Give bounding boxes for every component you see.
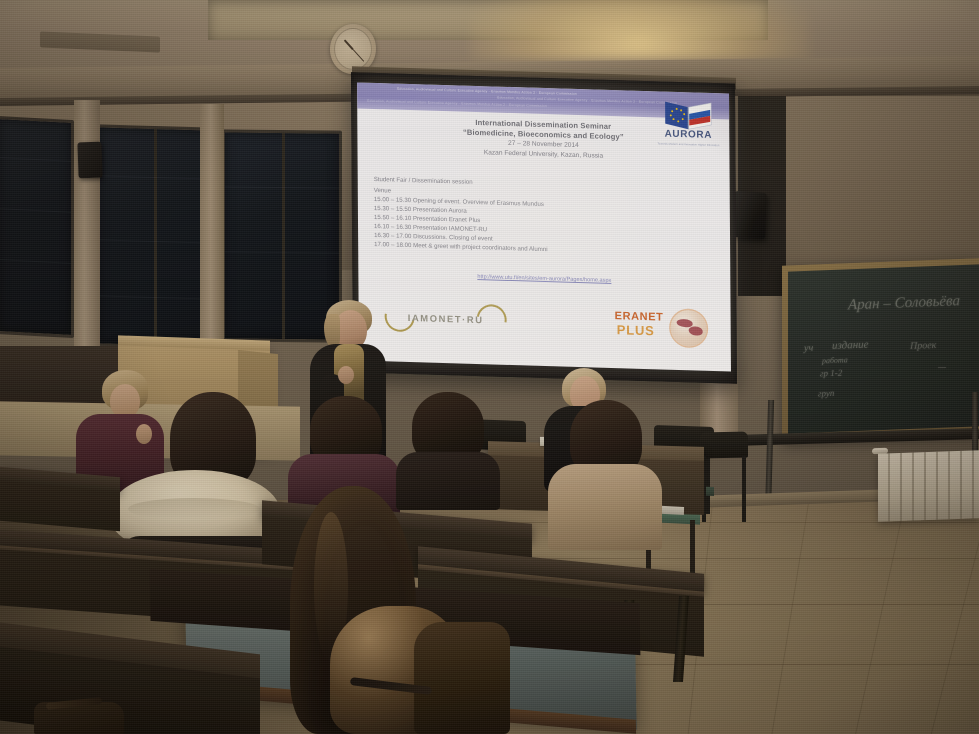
beret-fold [128,498,260,520]
side-desk-leg [690,520,695,576]
chair-back [700,432,748,459]
presenter-hand [338,366,354,384]
agenda-item: 17.00 – 18.00 Meet & greet with project … [374,240,547,254]
chair-leg [706,452,710,514]
presenter-hair-side [324,314,340,348]
chalk-line-d: работа [822,355,848,365]
window-left-b [96,124,216,349]
window-left-a [0,116,74,338]
chair-leg [742,456,746,522]
chalk-line-c: Проек [910,340,936,352]
chalk-line-b: издание [832,339,869,352]
attendee-torso-beige [548,464,662,550]
wall-pillar-middle [200,104,224,354]
slide-url-link[interactable]: http://www.utu.fi/en/sites/em-aurora/Pag… [358,270,730,287]
clock-face [334,28,372,70]
chalk-line-f: груп [818,388,834,399]
attendee-hand [136,424,152,444]
eranet-globe-icon [671,310,707,347]
chalk-line-top: Аран – Соловьёва [848,293,960,314]
slide-band-text: Education, Audiovisual and Culture Execu… [397,87,577,96]
wall-speaker-right-icon [733,191,767,239]
chalk-line-e: гр 1-2 [820,368,842,379]
eranet-plus-logo: ERANET PLUS [613,304,709,351]
wall-radiator [878,450,979,522]
wall-pillar-left [74,100,100,350]
person-attendee-fur-coat [330,606,510,734]
projected-slide: Education, Audiovisual and Culture Execu… [357,82,731,371]
eranet-word-2: PLUS [617,322,655,338]
chalk-smudge: — [938,362,946,372]
photograph-lecture-hall: Education, Audiovisual and Culture Execu… [0,0,979,734]
chalk-line-a: уч [804,343,813,354]
ceiling-light-glow [470,0,810,60]
slide-section-heading: Student Fair / Dissemination session [374,175,473,187]
chalkboard: Аран – Соловьёва уч издание Проек работа… [788,264,979,433]
coat-body [414,622,510,734]
attendee-head [110,384,140,418]
wall-speaker-left-icon [77,142,102,179]
person-attendee-beige [548,400,664,550]
